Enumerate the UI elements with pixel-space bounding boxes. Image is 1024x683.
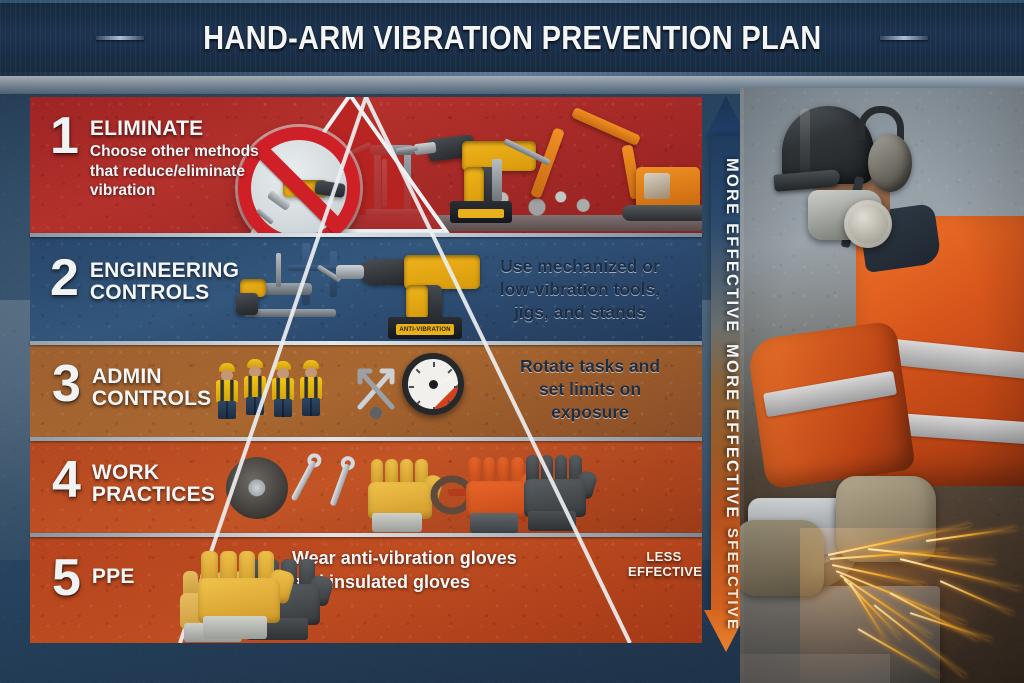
wrench-icon [325, 454, 357, 510]
rubber-ring-icon [430, 475, 474, 515]
tier-4-number: 4 [52, 457, 81, 505]
rotation-arrows-icon [348, 357, 418, 423]
insulated-glove-icon [524, 455, 586, 517]
tier-5-label: 5 PPE [52, 555, 202, 603]
page-title: HAND-ARM VIBRATION PREVENTION PLAN [0, 0, 1024, 76]
tier-1-label: 1 ELIMINATE Choose other methods that re… [50, 113, 300, 201]
photo-left-edge [740, 88, 744, 683]
less-effective-label: LESS EFFECTIVE [628, 549, 700, 579]
tier-separator-2 [30, 341, 702, 345]
ear-defenders-icon [868, 134, 912, 192]
tier-2-name: ENGINEERING CONTROLS [90, 260, 239, 305]
tier-3-number: 3 [52, 361, 81, 409]
hard-hat-ridge [800, 108, 810, 178]
tier-4-label: 4 WORK PRACTICES [52, 457, 242, 507]
arrow-label-middle: MORE EFFECTIVE [711, 344, 741, 520]
tier-1-eliminate[interactable]: 1 ELIMINATE Choose other methods that re… [30, 97, 702, 233]
tier-2-right-description: Use mechanized or low-vibration tools, j… [460, 255, 700, 324]
anti-vibration-glove-icon [466, 457, 528, 519]
anti-vibration-glove-icon [198, 551, 280, 623]
hierarchy-of-controls-pyramid: 1 ELIMINATE Choose other methods that re… [30, 97, 702, 643]
tool-label: ANTI-VIBRATION [396, 324, 454, 335]
page-title-text: HAND-ARM VIBRATION PREVENTION PLAN [203, 19, 821, 57]
tier-5-right-description: Wear anti-vibration gloves and insulated… [292, 547, 622, 595]
tier-3-name: ADMIN CONTROLS [92, 366, 211, 411]
tier-3-right-description: Rotate tasks and set limits on exposure [482, 355, 698, 424]
respirator-filter-cartridge [844, 200, 892, 248]
work-glove-icon [368, 459, 432, 519]
tier-2-number: 2 [50, 255, 79, 303]
stopwatch-timer-icon [402, 353, 464, 415]
arrow-label-top: MORE EFFECTIVE [711, 158, 741, 334]
arrow-label-bottom: SFEECTIVE [711, 528, 741, 631]
tier-5-name: PPE [92, 566, 135, 588]
worker-photo-panel [740, 88, 1024, 683]
tier-4-work-practices[interactable]: 4 WORK PRACTICES [30, 441, 702, 533]
title-right-dash-icon [880, 36, 928, 40]
tier-3-label: 3 ADMIN CONTROLS [52, 361, 252, 411]
infographic-canvas: HAND-ARM VIBRATION PREVENTION PLAN [0, 0, 1024, 683]
wrench-icon [286, 451, 324, 505]
tier-4-name: WORK PRACTICES [92, 462, 215, 507]
tier-separator-1 [30, 233, 702, 237]
title-left-dash-icon [96, 36, 144, 40]
tier-5-number: 5 [52, 555, 81, 603]
tier-separator-3 [30, 437, 702, 441]
tier-1-name: ELIMINATE [90, 118, 259, 140]
tier-separator-4 [30, 533, 702, 537]
tier-2-label: 2 ENGINEERING CONTROLS [50, 255, 270, 305]
tier-1-description: Choose other methods that reduce/elimina… [90, 142, 259, 201]
tier-1-number: 1 [50, 113, 79, 161]
